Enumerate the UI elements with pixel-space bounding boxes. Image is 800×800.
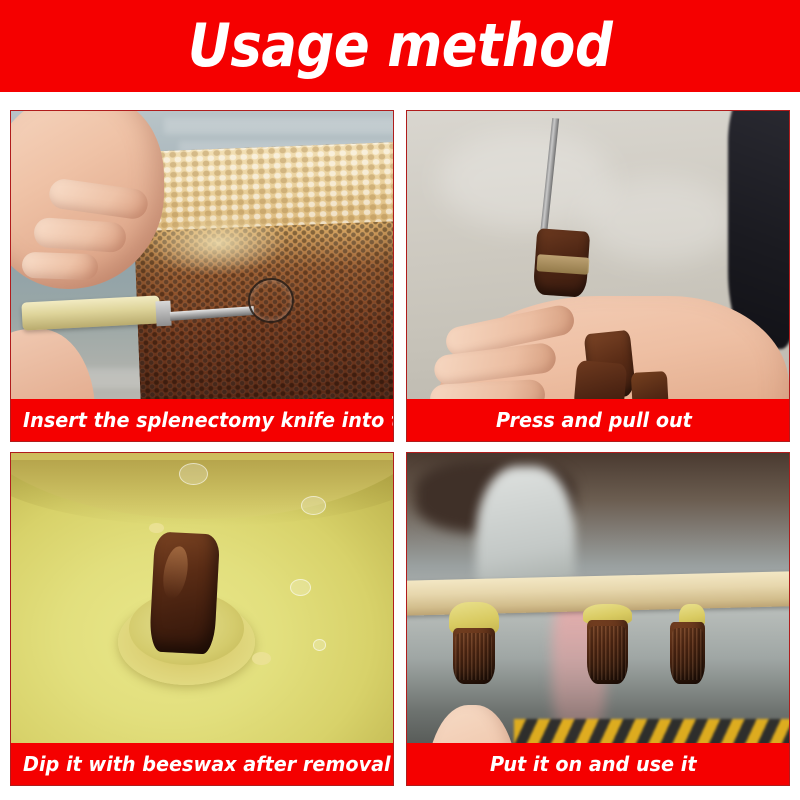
mounted-queen-cell (667, 604, 709, 684)
honeycomb-highlight (147, 208, 287, 279)
usage-method-infographic: Usage method (0, 0, 800, 800)
step-caption-3-text: Dip it with beeswax after removal (23, 752, 391, 776)
wax-bubble (313, 639, 326, 651)
photo1-backdrop-bar (164, 118, 393, 135)
queen-cell-on-rod-over-palm-photo (407, 111, 789, 441)
mounted-queen-cell (449, 602, 499, 682)
step-caption-1: Insert the splenectomy knife into the sp… (11, 399, 393, 441)
step-caption-1-text: Insert the splenectomy knife into the sp… (23, 408, 394, 432)
finger (33, 217, 127, 253)
wax-bubble (290, 579, 311, 596)
step-card-2[interactable]: Press and pull out (406, 110, 790, 442)
cell-dipped-in-beeswax-photo (11, 453, 393, 785)
wax-bubble (301, 496, 326, 515)
photo2-backdrop-blur (583, 177, 736, 263)
queen-cell-body (453, 628, 495, 684)
title-banner: Usage method (0, 0, 800, 92)
step-caption-2-text: Press and pull out (496, 408, 692, 432)
queen-cell-body (670, 622, 705, 684)
cells-mounted-on-wooden-bar-photo (407, 453, 789, 785)
step-caption-4: Put it on and use it (407, 743, 789, 785)
step-card-3[interactable]: Dip it with beeswax after removal (10, 452, 394, 786)
mounted-queen-cell (583, 604, 633, 684)
step-card-4[interactable]: Put it on and use it (406, 452, 790, 786)
wax-bubble (179, 463, 208, 485)
step-caption-2: Press and pull out (407, 399, 789, 441)
step-caption-3: Dip it with beeswax after removal (11, 743, 393, 785)
finger (22, 252, 99, 281)
wax-speck (149, 523, 164, 533)
honeycomb-frame-with-knife-photo (11, 111, 393, 441)
queen-cell-body (587, 620, 629, 684)
steps-grid: Insert the splenectomy knife into the sp… (10, 110, 790, 786)
step-caption-4-text: Put it on and use it (490, 752, 697, 776)
step-card-1[interactable]: Insert the splenectomy knife into the sp… (10, 110, 394, 442)
page-title: Usage method (188, 16, 612, 76)
